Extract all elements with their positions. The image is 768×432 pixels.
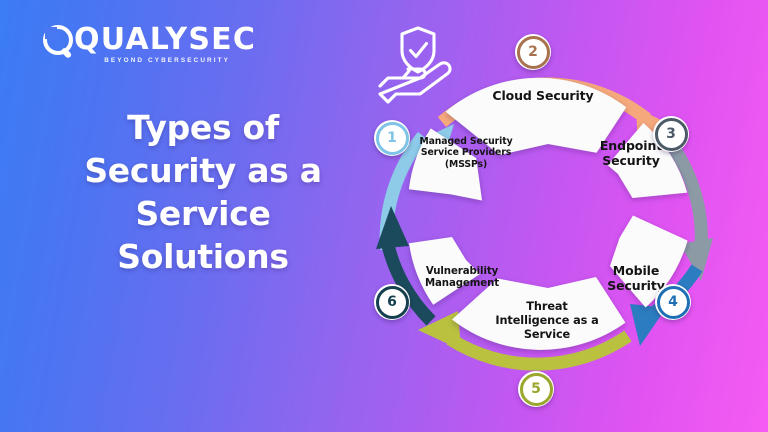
cycle-diagram: Managed Security Service Providers (MSSP… xyxy=(368,16,728,416)
page-title: Types of Security as a Service Solutions xyxy=(78,106,328,278)
segment-3-badge[interactable]: 3 xyxy=(653,116,689,152)
segment-2-badge[interactable]: 2 xyxy=(515,34,551,70)
segment-5-badge[interactable]: 5 xyxy=(518,371,554,407)
segment-1-label: Managed Security Service Providers (MSSP… xyxy=(408,136,524,170)
segment-5-label: Threat Intelligence as a Service xyxy=(488,300,606,341)
segment-1-badge[interactable]: 1 xyxy=(374,120,410,156)
brand-logo: QUALYSEC BEYOND CYBERSECURITY xyxy=(43,24,233,72)
segment-6-number: 6 xyxy=(376,286,409,319)
segment-6-label: Vulnerability Management xyxy=(404,266,520,291)
hand-holding-shield-check-icon xyxy=(368,16,468,116)
segment-4-badge[interactable]: 4 xyxy=(655,284,691,320)
logo-row: QUALYSEC xyxy=(43,24,233,56)
brand-name: QUALYSEC xyxy=(74,25,256,55)
segment-2-number: 2 xyxy=(517,36,550,69)
segment-1-number: 1 xyxy=(376,122,409,155)
magnifier-q-icon xyxy=(43,25,73,55)
segment-3-number: 3 xyxy=(655,118,688,151)
segment-4-number: 4 xyxy=(657,286,690,319)
segment-2-label: Cloud Security xyxy=(488,88,598,103)
brand-tagline: BEYOND CYBERSECURITY xyxy=(43,57,233,64)
infographic-canvas: QUALYSEC BEYOND CYBERSECURITY Types of S… xyxy=(0,0,768,432)
segment-6-badge[interactable]: 6 xyxy=(374,284,410,320)
segment-5-number: 5 xyxy=(520,373,553,406)
